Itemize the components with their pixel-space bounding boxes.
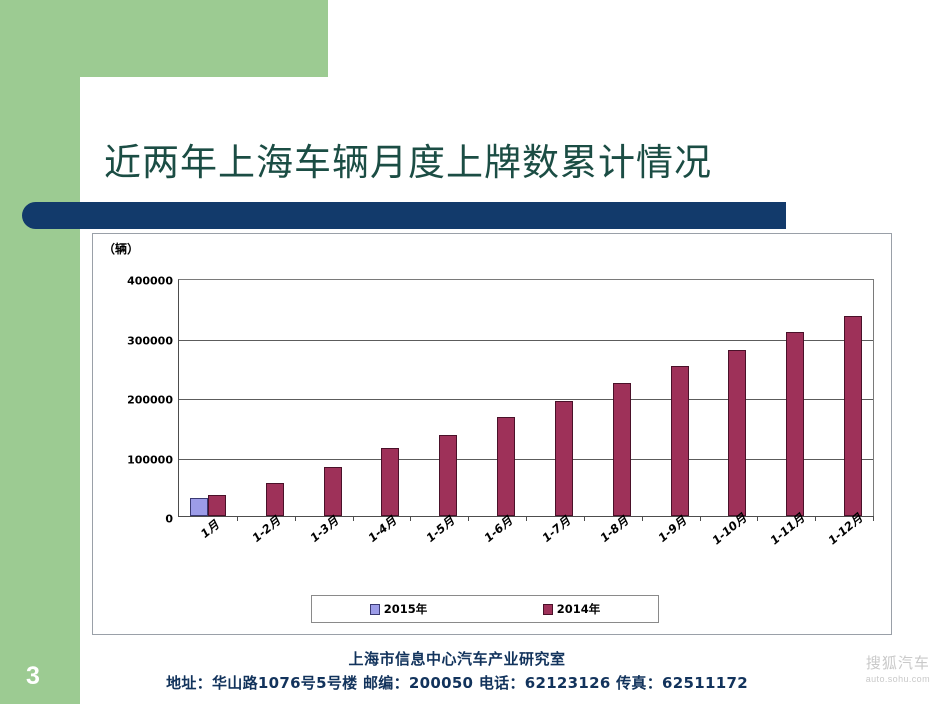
x-axis-labels: 1月1-2月1-3月1-4月1-5月1-6月1-7月1-8月1-9月1-10月1… — [178, 521, 874, 591]
green-top-block — [0, 0, 328, 77]
legend-label-2015: 2015年 — [384, 601, 428, 617]
bar-2014年-1-6月 — [497, 417, 515, 516]
bar-2014年-1-3月 — [324, 467, 342, 516]
footer-contact: 地址：华山路1076号5号楼 邮编：200050 电话：62123126 传真：… — [92, 672, 822, 693]
bar-2014年-1-2月 — [266, 483, 284, 516]
bar-2014年-1-10月 — [728, 350, 746, 516]
slide: 近两年上海车辆月度上牌数累计情况 3 （辆） 01000002000003000… — [0, 0, 938, 704]
x-label-cell: 1-4月 — [352, 521, 410, 591]
bar-group — [584, 280, 642, 516]
bar-group — [699, 280, 757, 516]
footer-organization: 上海市信息中心汽车产业研究室 — [92, 648, 822, 669]
y-tick-label: 200000 — [127, 394, 173, 407]
bar-group — [642, 280, 700, 516]
x-label-cell: 1-3月 — [294, 521, 352, 591]
chart-container: （辆） 0100000200000300000400000 1月1-2月1-3月… — [92, 233, 892, 635]
legend-item-2015: 2015年 — [370, 601, 428, 617]
navy-divider-bar — [22, 202, 786, 229]
bar-2014年-1-4月 — [381, 448, 399, 516]
bar-2014年-1-5月 — [439, 435, 457, 517]
y-tick-label: 100000 — [127, 453, 173, 466]
y-axis-unit-label: （辆） — [103, 240, 139, 257]
bar-group — [295, 280, 353, 516]
legend-label-2014: 2014年 — [557, 601, 601, 617]
y-tick-label: 300000 — [127, 334, 173, 347]
chart-legend: 2015年 2014年 — [311, 595, 659, 623]
slide-number: 3 — [26, 662, 40, 691]
bar-2014年-1-7月 — [555, 401, 573, 516]
green-left-band — [0, 0, 80, 704]
bar-group — [757, 280, 815, 516]
x-label-cell: 1-5月 — [410, 521, 468, 591]
legend-swatch-2015 — [370, 604, 380, 615]
y-tick-label: 0 — [165, 513, 173, 526]
bar-2015年-1月 — [190, 498, 208, 516]
bar-group — [815, 280, 873, 516]
bar-2014年-1-11月 — [786, 332, 804, 516]
x-label-cell: 1-7月 — [526, 521, 584, 591]
legend-swatch-2014 — [543, 604, 553, 615]
legend-item-2014: 2014年 — [543, 601, 601, 617]
watermark-name: 搜狐汽车 — [866, 652, 930, 673]
bar-groups — [179, 280, 873, 516]
bar-group — [352, 280, 410, 516]
x-label-cell: 1-11月 — [758, 521, 816, 591]
bar-2014年-1-12月 — [844, 316, 862, 517]
x-label-cell: 1月 — [178, 521, 236, 591]
bar-2014年-1-9月 — [671, 366, 689, 516]
bar-group — [237, 280, 295, 516]
bar-group — [526, 280, 584, 516]
bar-group — [179, 280, 237, 516]
bar-group — [410, 280, 468, 516]
page-title: 近两年上海车辆月度上牌数累计情况 — [104, 132, 864, 186]
x-label-cell: 1-2月 — [236, 521, 294, 591]
plot-area: 0100000200000300000400000 — [178, 279, 874, 517]
footer: 上海市信息中心汽车产业研究室 地址：华山路1076号5号楼 邮编：200050 … — [92, 648, 822, 693]
bar-2014年-1月 — [208, 495, 226, 516]
x-label-cell: 1-8月 — [584, 521, 642, 591]
x-label-cell: 1-9月 — [642, 521, 700, 591]
x-label-cell: 1-12月 — [816, 521, 874, 591]
bar-group — [468, 280, 526, 516]
x-label-cell: 1-6月 — [468, 521, 526, 591]
watermark: 搜狐汽车 auto.sohu.com — [866, 652, 930, 684]
x-label-cell: 1-10月 — [700, 521, 758, 591]
bar-2014年-1-8月 — [613, 383, 631, 516]
x-tick-label: 1月 — [197, 517, 222, 542]
watermark-url: auto.sohu.com — [866, 674, 930, 684]
y-tick-label: 400000 — [127, 275, 173, 288]
